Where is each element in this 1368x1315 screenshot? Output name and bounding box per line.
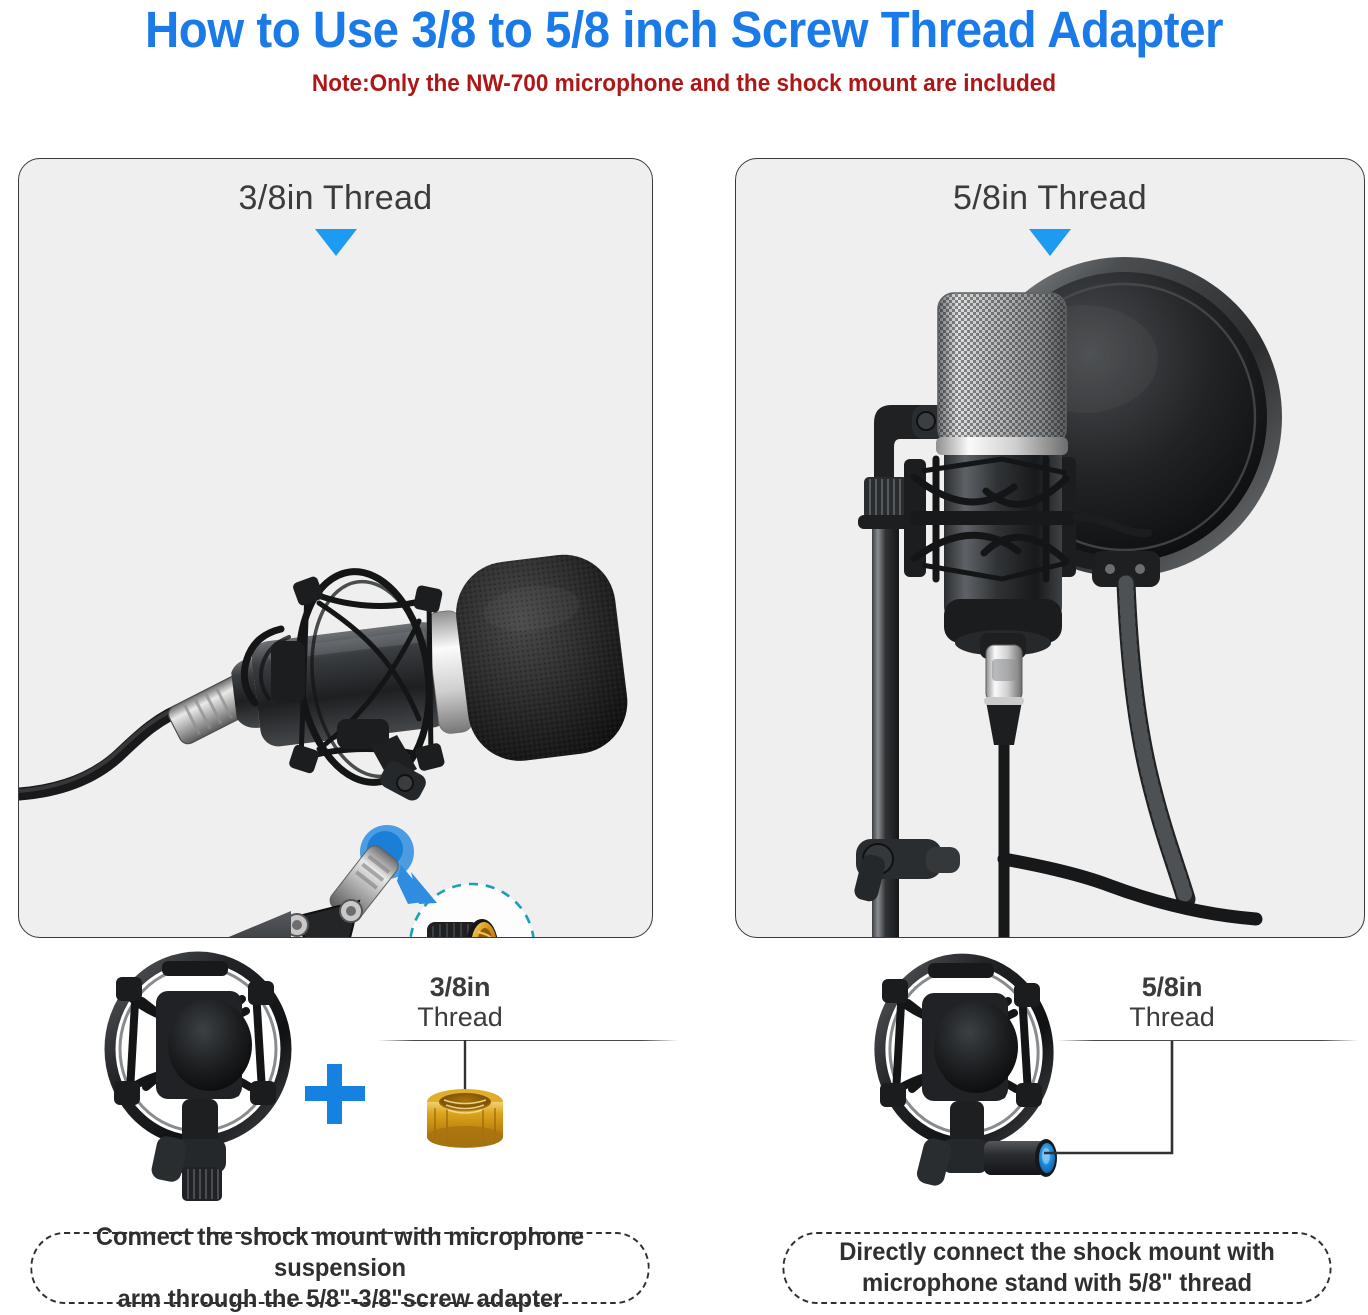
condenser-microphone-grille	[936, 293, 1068, 455]
thread-label-right: 5/8in Thread	[1082, 972, 1262, 1032]
caption-right: Directly connect the shock mount with mi…	[782, 1232, 1331, 1304]
panel-right-5-8-thread: 5/8in Thread	[735, 158, 1365, 938]
xlr-cable	[984, 645, 1256, 937]
thread-label-right-rule	[1058, 1040, 1358, 1041]
page-title: How to Use 3/8 to 5/8 inch Screw Thread …	[48, 2, 1320, 58]
thread-label-left-word: Thread	[370, 1002, 550, 1032]
plus-icon	[305, 1064, 365, 1124]
thread-label-left: 3/8in Thread	[370, 972, 550, 1032]
right-panel-illustration	[736, 159, 1364, 937]
bottom-right-group: 5/8in Thread	[684, 936, 1368, 1226]
thread-label-left-size: 3/8in	[370, 972, 550, 1002]
thread-label-right-word: Thread	[1082, 1002, 1262, 1032]
bottom-row: 3/8in Thread	[0, 936, 1368, 1226]
shock-mount-left-illustration	[70, 941, 330, 1221]
caption-right-line2: microphone stand with 5/8" thread	[839, 1268, 1274, 1299]
thread-leader-right	[1044, 1040, 1368, 1220]
caption-right-line1: Directly connect the shock mount with	[839, 1237, 1274, 1268]
caption-left-line2: arm through the 5/8"-3/8"screw adapter	[49, 1284, 630, 1315]
adapter-callout	[397, 865, 534, 937]
infographic-root: How to Use 3/8 to 5/8 inch Screw Thread …	[0, 0, 1368, 1309]
caption-left: Connect the shock mount with microphone …	[30, 1232, 649, 1304]
page-note: Note:Only the NW-700 microphone and the …	[41, 70, 1327, 98]
thread-label-right-size: 5/8in	[1082, 972, 1262, 1002]
bottom-left-group: 3/8in Thread	[0, 936, 684, 1226]
brass-adapter-illustration	[390, 1040, 560, 1200]
pop-filter-gooseneck	[1126, 583, 1186, 899]
caption-left-line1: Connect the shock mount with microphone …	[49, 1222, 630, 1284]
left-panel-illustration	[19, 159, 652, 937]
panel-left-3-8-thread: 3/8in Thread	[18, 158, 653, 938]
